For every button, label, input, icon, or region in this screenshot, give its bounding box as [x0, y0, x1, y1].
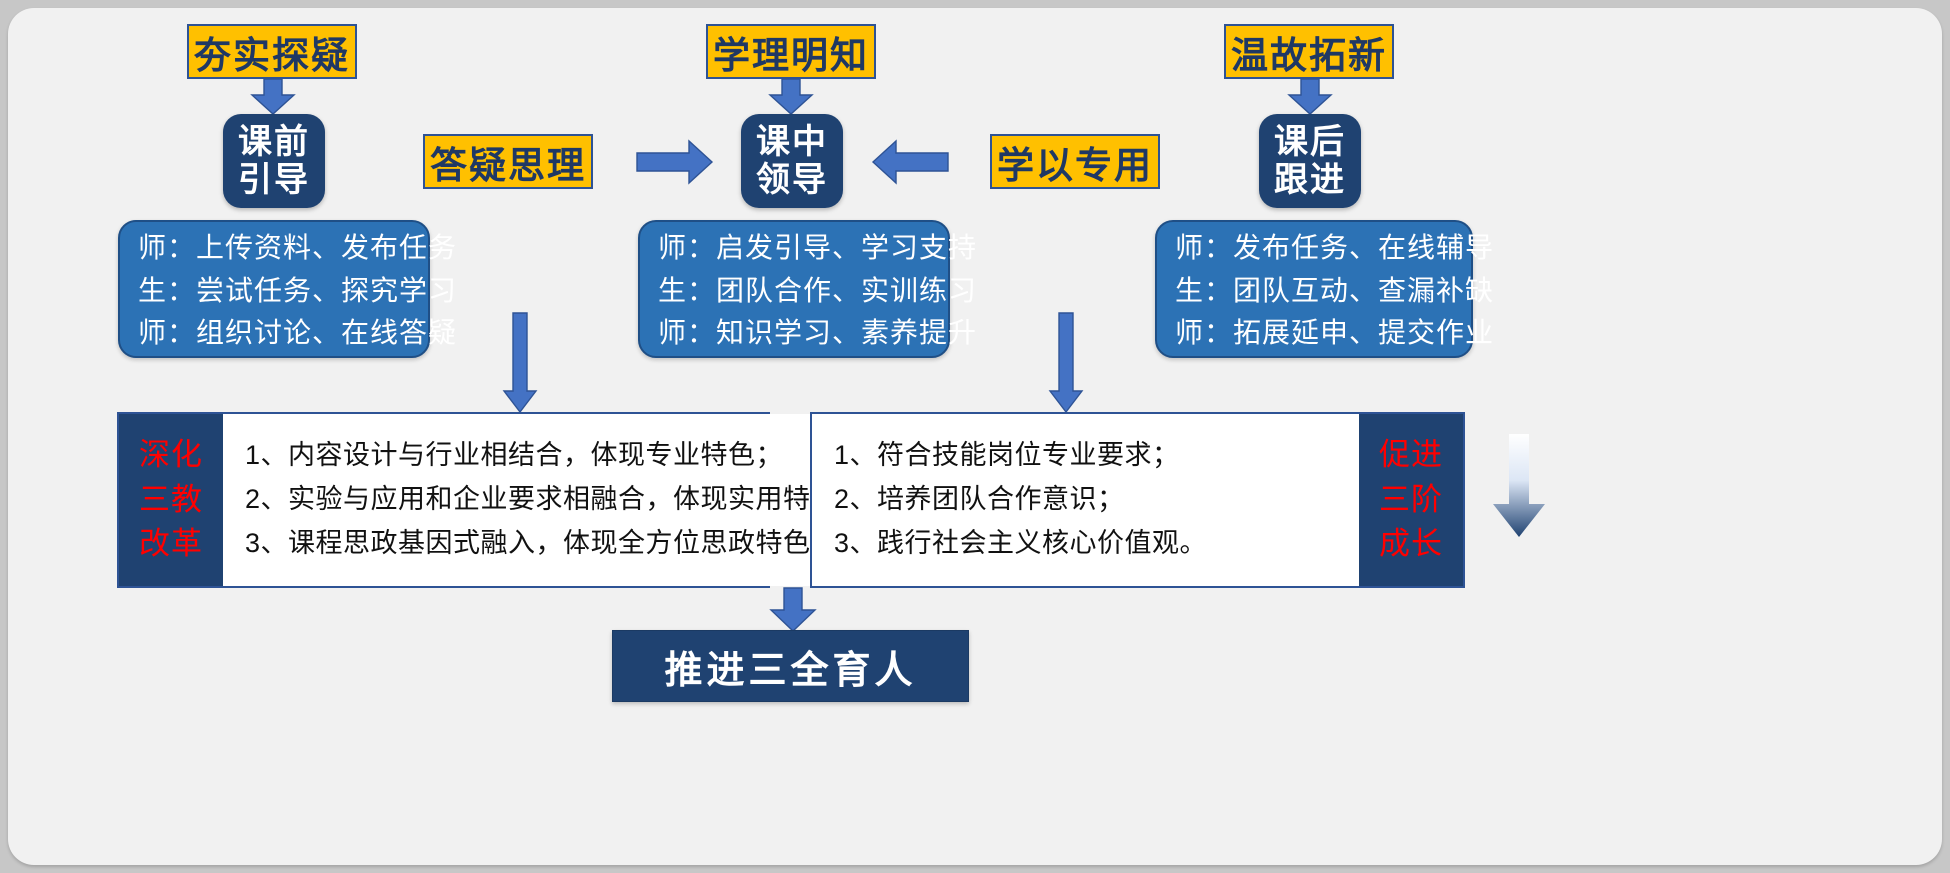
- panel-right-item-3: 3、践行社会主义核心价值观。: [834, 522, 1343, 566]
- down-arrow-icon-to-panel-left: [503, 313, 537, 413]
- banner-col3: 温故拓新: [1224, 24, 1394, 79]
- final-banner: 推进三全育人: [612, 630, 969, 702]
- down-arrow-icon-to-panel-right: [1049, 313, 1083, 413]
- panel-left-tab: 深化 三教 改革: [119, 414, 223, 586]
- banner-col2-label: 学理明知: [713, 25, 869, 79]
- info-col3-line3: 师：拓展延申、提交作业: [1175, 312, 1453, 355]
- down-arrow-icon-col2: [769, 79, 813, 115]
- stage-col1-line2: 引导: [238, 161, 310, 199]
- panel-left-body: 1、内容设计与行业相结合，体现专业特色； 2、实验与应用和企业要求相融合，体现实…: [223, 414, 882, 586]
- panel-right-item-2: 2、培养团队合作意识；: [834, 478, 1343, 522]
- stage-col2-line2: 领导: [756, 161, 828, 199]
- panel-left-tab-line3: 改革: [139, 522, 203, 567]
- stage-box-col3: 课后 跟进: [1259, 114, 1361, 208]
- down-arrow-icon-col1: [251, 79, 295, 115]
- side-label-left-text: 答疑思理: [430, 135, 586, 189]
- gradient-down-arrow-icon: [1492, 434, 1546, 538]
- panel-right-tab-line3: 成长: [1379, 522, 1443, 567]
- stage-col3-line2: 跟进: [1274, 161, 1346, 199]
- right-arrow-icon: [637, 140, 713, 184]
- banner-col1: 夯实探疑: [187, 24, 357, 79]
- info-col2-line2: 生：团队合作、实训练习: [658, 270, 930, 313]
- info-box-col1: 师：上传资料、发布任务 生：尝试任务、探究学习 师：组织讨论、在线答疑: [118, 220, 430, 358]
- stage-box-col2: 课中 领导: [741, 114, 843, 208]
- banner-col3-label: 温故拓新: [1231, 25, 1387, 79]
- stage-box-col1: 课前 引导: [223, 114, 325, 208]
- panel-right-tab: 促进 三阶 成长: [1359, 414, 1463, 586]
- side-label-left: 答疑思理: [423, 134, 593, 189]
- panel-left-item-3: 3、课程思政基因式融入，体现全方位思政特色。: [245, 522, 866, 566]
- side-label-right-text: 学以专用: [997, 135, 1153, 189]
- detail-panel-left: 深化 三教 改革 1、内容设计与行业相结合，体现专业特色； 2、实验与应用和企业…: [117, 412, 770, 588]
- info-col2-line3: 师：知识学习、素养提升: [658, 312, 930, 355]
- panel-right-item-1: 1、符合技能岗位专业要求；: [834, 434, 1343, 478]
- diagram-canvas: 夯实探疑 课前 引导 师：上传资料、发布任务 生：尝试任务、探究学习 师：组织讨…: [8, 8, 1942, 865]
- panel-right-body: 1、符合技能岗位专业要求； 2、培养团队合作意识； 3、践行社会主义核心价值观。: [812, 414, 1359, 586]
- info-box-col2: 师：启发引导、学习支持 生：团队合作、实训练习 师：知识学习、素养提升: [638, 220, 950, 358]
- side-label-right: 学以专用: [990, 134, 1160, 189]
- banner-col2: 学理明知: [706, 24, 876, 79]
- info-col1-line1: 师：上传资料、发布任务: [138, 227, 410, 270]
- stage-col3-line1: 课后: [1274, 123, 1346, 161]
- stage-col2-line1: 课中: [756, 123, 828, 161]
- down-arrow-icon-col3: [1288, 79, 1332, 115]
- left-arrow-icon: [873, 140, 949, 184]
- final-banner-label: 推进三全育人: [664, 639, 916, 694]
- info-col3-line2: 生：团队互动、查漏补缺: [1175, 270, 1453, 313]
- panel-right-tab-line2: 三阶: [1379, 478, 1443, 523]
- info-col2-line1: 师：启发引导、学习支持: [658, 227, 930, 270]
- info-col1-line3: 师：组织讨论、在线答疑: [138, 312, 410, 355]
- stage-col1-line1: 课前: [238, 123, 310, 161]
- info-col3-line1: 师：发布任务、在线辅导: [1175, 227, 1453, 270]
- detail-panel-right: 1、符合技能岗位专业要求； 2、培养团队合作意识； 3、践行社会主义核心价值观。…: [810, 412, 1465, 588]
- down-arrow-icon-final: [770, 588, 816, 632]
- panel-left-tab-line1: 深化: [139, 433, 203, 478]
- info-col1-line2: 生：尝试任务、探究学习: [138, 270, 410, 313]
- banner-col1-label: 夯实探疑: [194, 25, 350, 79]
- panel-left-tab-line2: 三教: [139, 478, 203, 523]
- panel-right-tab-line1: 促进: [1379, 433, 1443, 478]
- info-box-col3: 师：发布任务、在线辅导 生：团队互动、查漏补缺 师：拓展延申、提交作业: [1155, 220, 1473, 358]
- panel-left-item-2: 2、实验与应用和企业要求相融合，体现实用特色；: [245, 478, 866, 522]
- panel-left-item-1: 1、内容设计与行业相结合，体现专业特色；: [245, 434, 866, 478]
